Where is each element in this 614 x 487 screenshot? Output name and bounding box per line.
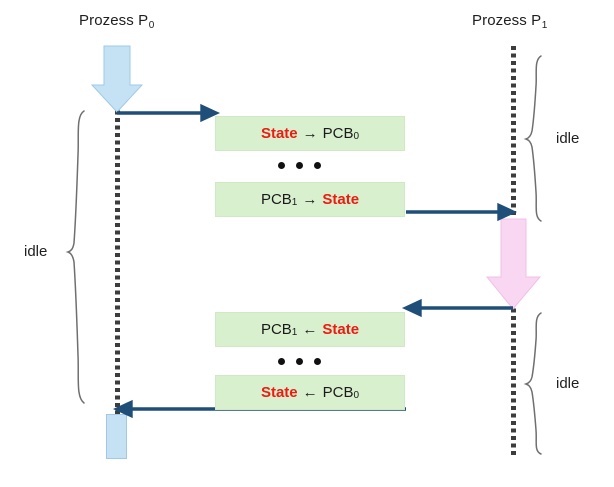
ellipsis-dot	[296, 358, 303, 365]
ellipsis-dot	[314, 162, 321, 169]
brace-idle-left	[68, 111, 84, 403]
brace-shapes	[0, 0, 614, 487]
process-header-p0-name: Prozess P	[79, 12, 148, 29]
activation-shapes	[0, 0, 614, 487]
message-box-1: State→PCB0	[215, 116, 405, 151]
transition-arrow-3-head	[406, 302, 420, 315]
message-box-2-right: State	[322, 191, 359, 208]
message-box-2: PCB1→State	[215, 182, 405, 217]
message-box-3-right: State	[322, 321, 359, 338]
process-header-p1-name: Prozess P	[472, 12, 541, 29]
context-switch-diagram: Prozess P0 Prozess P1 Sta	[0, 0, 614, 487]
lifeline-p0	[115, 103, 120, 418]
message-box-1-left: State	[261, 125, 298, 142]
message-box-3: PCB1←State	[215, 312, 405, 347]
process-header-p1-sub: 1	[542, 20, 548, 31]
process-header-p1: Prozess P1	[472, 12, 547, 29]
message-box-3-left: PCB	[261, 321, 292, 338]
message-box-4-right-sub: 0	[353, 390, 359, 401]
ellipsis-dot	[314, 358, 321, 365]
process-header-p0: Prozess P0	[79, 12, 154, 29]
p0-resume-bar	[106, 414, 127, 459]
message-box-4-right: PCB	[323, 384, 354, 401]
message-box-4: State←PCB0	[215, 375, 405, 410]
brace-label-idle-left: idle	[24, 243, 47, 260]
ellipsis-lower	[278, 358, 321, 365]
transition-arrows	[0, 0, 614, 487]
message-box-1-right: PCB	[323, 125, 354, 142]
message-box-1-right-sub: 0	[353, 131, 359, 142]
brace-label-idle-right-lower: idle	[556, 375, 579, 392]
lifeline-p1	[511, 46, 516, 455]
message-box-2-arrow: →	[297, 191, 322, 208]
ellipsis-dot	[278, 162, 285, 169]
message-box-4-left: State	[261, 384, 298, 401]
message-box-3-arrow: ←	[297, 321, 322, 338]
ellipsis-dot	[296, 162, 303, 169]
transition-arrow-1-head	[202, 107, 216, 120]
ellipsis-upper	[278, 162, 321, 169]
message-box-1-arrow: →	[298, 125, 323, 142]
brace-idle-right-upper	[526, 56, 541, 221]
brace-idle-right-lower	[526, 313, 541, 454]
brace-label-idle-right-upper: idle	[556, 130, 579, 147]
process-header-p0-sub: 0	[149, 20, 155, 31]
ellipsis-dot	[278, 358, 285, 365]
message-box-4-arrow: ←	[298, 384, 323, 401]
message-box-3-left-sub: 1	[292, 327, 298, 338]
message-box-2-left: PCB	[261, 191, 292, 208]
message-box-2-left-sub: 1	[292, 197, 298, 208]
